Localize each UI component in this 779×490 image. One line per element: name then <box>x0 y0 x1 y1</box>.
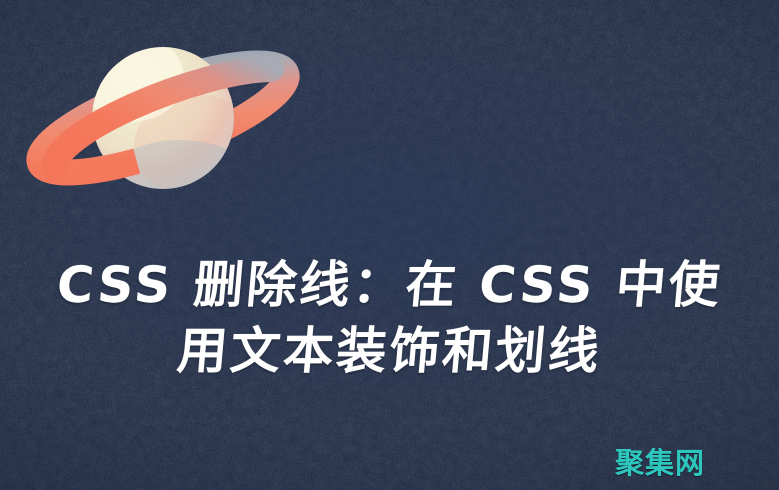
saturn-icon <box>0 0 330 230</box>
saturn-planet-illustration <box>0 0 330 230</box>
banner-image: CSS 删除线：在 CSS 中使 用文本装饰和划线 聚集网 <box>0 0 779 490</box>
site-watermark: 聚集网 <box>615 449 705 478</box>
